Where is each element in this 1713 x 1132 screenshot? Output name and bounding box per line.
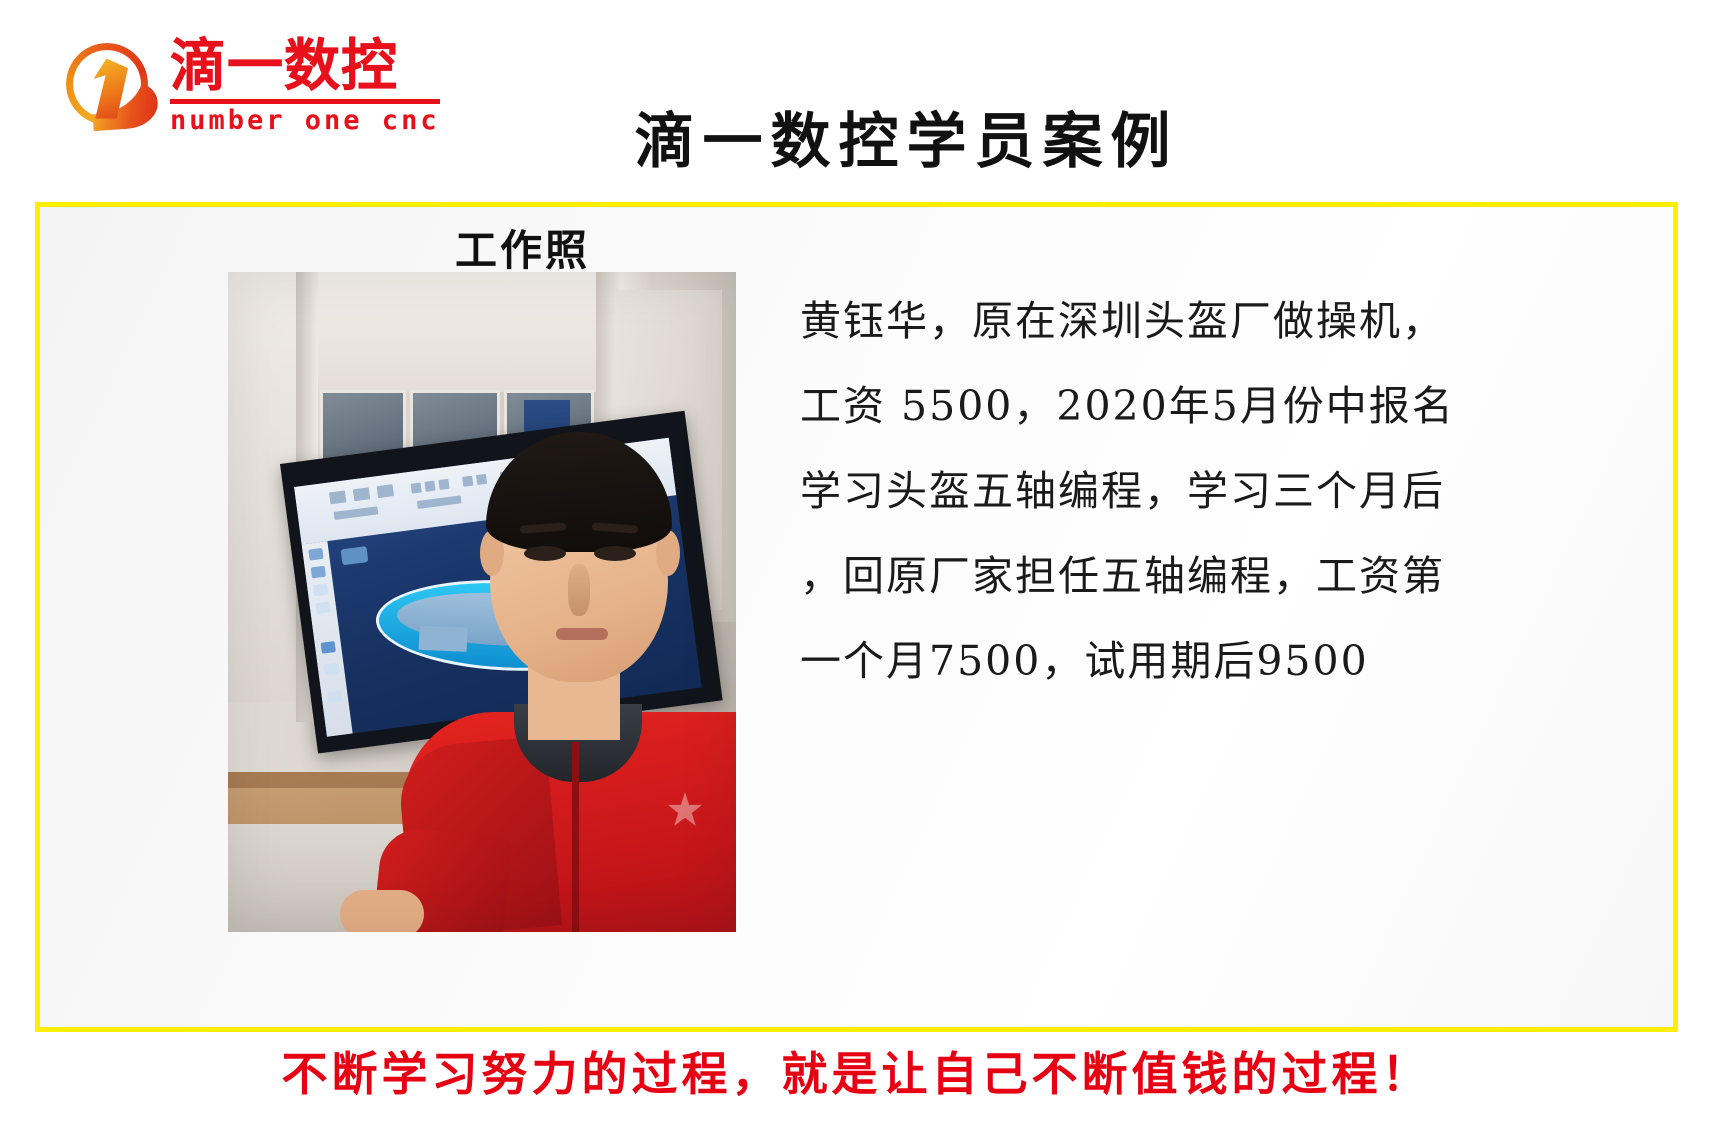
case-text-line: 黄钰华，原在深圳头盔厂做操机， bbox=[800, 279, 1620, 364]
case-text-line: 工资 5500，2020年5月份中报名 bbox=[800, 364, 1620, 449]
page-title: 滴一数控学员案例 bbox=[0, 106, 1713, 178]
case-text-line: 学习头盔五轴编程，学习三个月后 bbox=[800, 449, 1620, 534]
slide-header: 滴一数控 number one cnc 滴一数控学员案例 bbox=[0, 0, 1713, 200]
photo-caption-label: 工作照 bbox=[455, 227, 590, 275]
student-case-text: 黄钰华，原在深圳头盔厂做操机， 工资 5500，2020年5月份中报名 学习头盔… bbox=[800, 279, 1620, 704]
brand-name-cn: 滴一数控 bbox=[170, 38, 440, 96]
brand-divider-rule bbox=[170, 99, 440, 104]
case-text-line: 一个月7500，试用期后9500 bbox=[800, 619, 1620, 704]
slogan-caption: 不断学习努力的过程，就是让自己不断值钱的过程！ bbox=[0, 1046, 1713, 1102]
case-text-line: ，回原厂家担任五轴编程，工资第 bbox=[800, 534, 1620, 619]
photo-vignette bbox=[228, 272, 736, 932]
student-work-photo bbox=[228, 272, 736, 932]
content-card: 工作照 bbox=[35, 202, 1678, 1032]
